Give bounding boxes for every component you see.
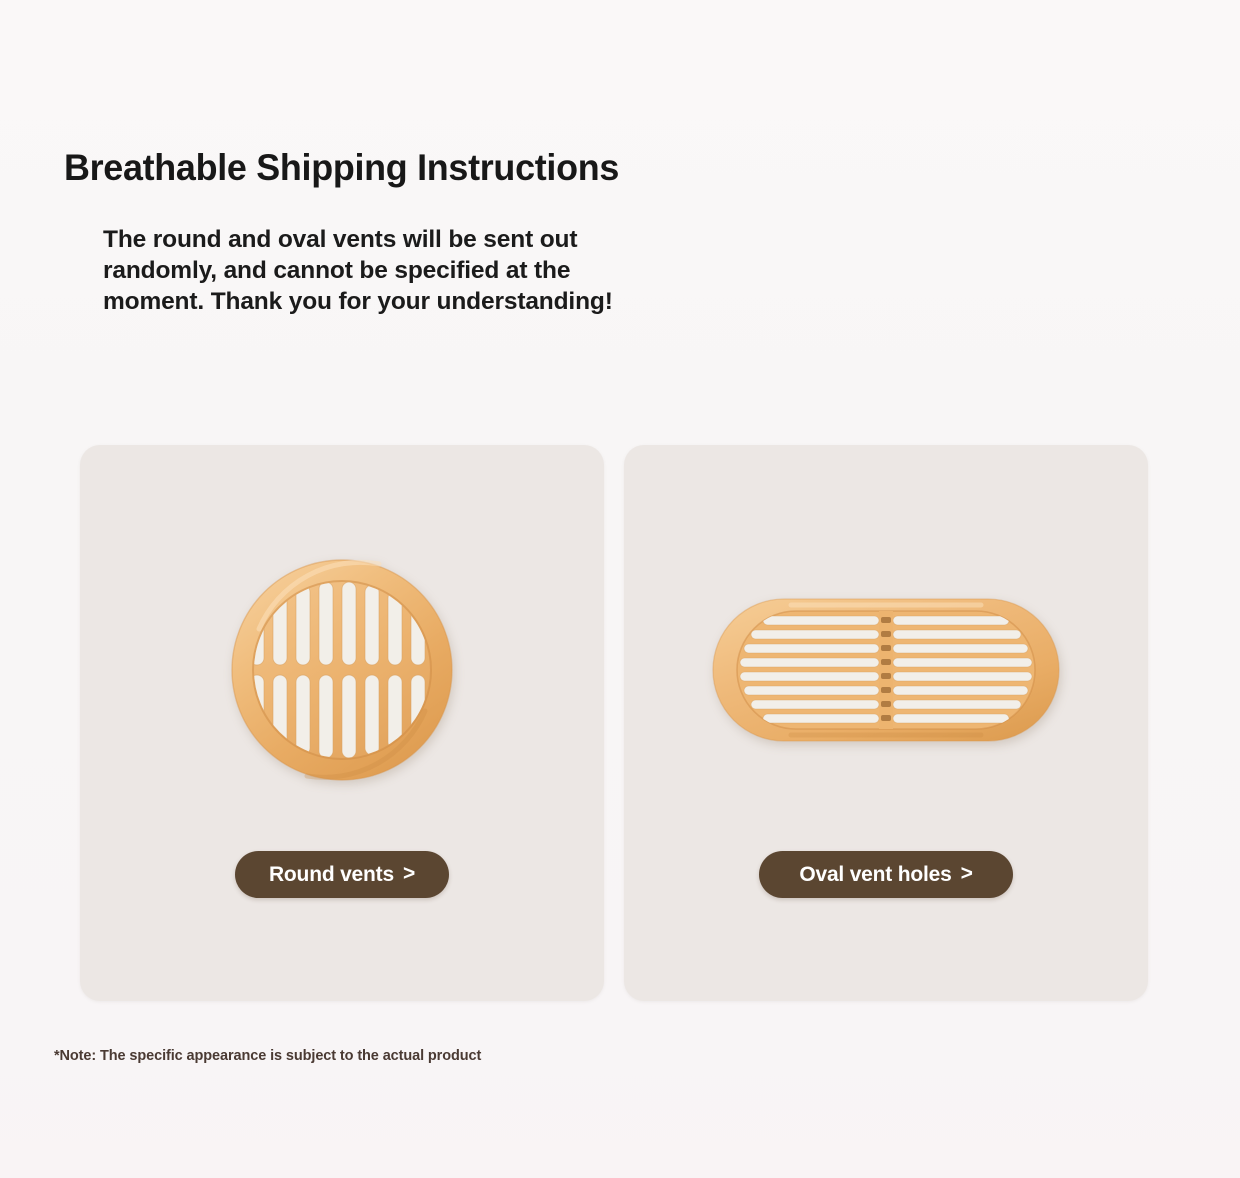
page-root: Breathable Shipping Instructions The rou…: [0, 0, 1240, 1178]
round-vent-cta: Round vents>: [80, 851, 604, 898]
intro-line-3: moment. Thank you for your understanding…: [103, 286, 713, 317]
oval-vent-card[interactable]: Oval vent holes >: [624, 445, 1148, 1001]
oval-vent-illustration: [711, 597, 1061, 743]
oval-vent-icon: [711, 597, 1061, 743]
round-vents-button[interactable]: Round vents>: [235, 851, 449, 898]
chevron-right-icon: >: [961, 863, 973, 884]
round-vent-card[interactable]: Round vents>: [80, 445, 604, 1001]
page-title: Breathable Shipping Instructions: [64, 147, 619, 189]
round-vent-illustration: [229, 557, 455, 783]
oval-vent-cta: Oval vent holes >: [624, 851, 1148, 898]
footnote-disclaimer: *Note: The specific appearance is subjec…: [54, 1048, 481, 1064]
oval-vent-holes-button[interactable]: Oval vent holes >: [759, 851, 1012, 898]
round-vent-stage: [80, 525, 604, 815]
chevron-right-icon: >: [403, 863, 415, 884]
intro-paragraph: The round and oval vents will be sent ou…: [103, 224, 713, 317]
round-vents-button-label: Round vents: [269, 863, 394, 887]
oval-vent-holes-button-label: Oval vent holes: [799, 863, 951, 887]
intro-line-2: randomly, and cannot be specified at the: [103, 255, 713, 286]
round-vent-icon: [229, 557, 455, 783]
oval-vent-stage: [624, 525, 1148, 815]
vent-options-container: Round vents>: [80, 445, 1148, 1001]
intro-line-1: The round and oval vents will be sent ou…: [103, 224, 713, 255]
